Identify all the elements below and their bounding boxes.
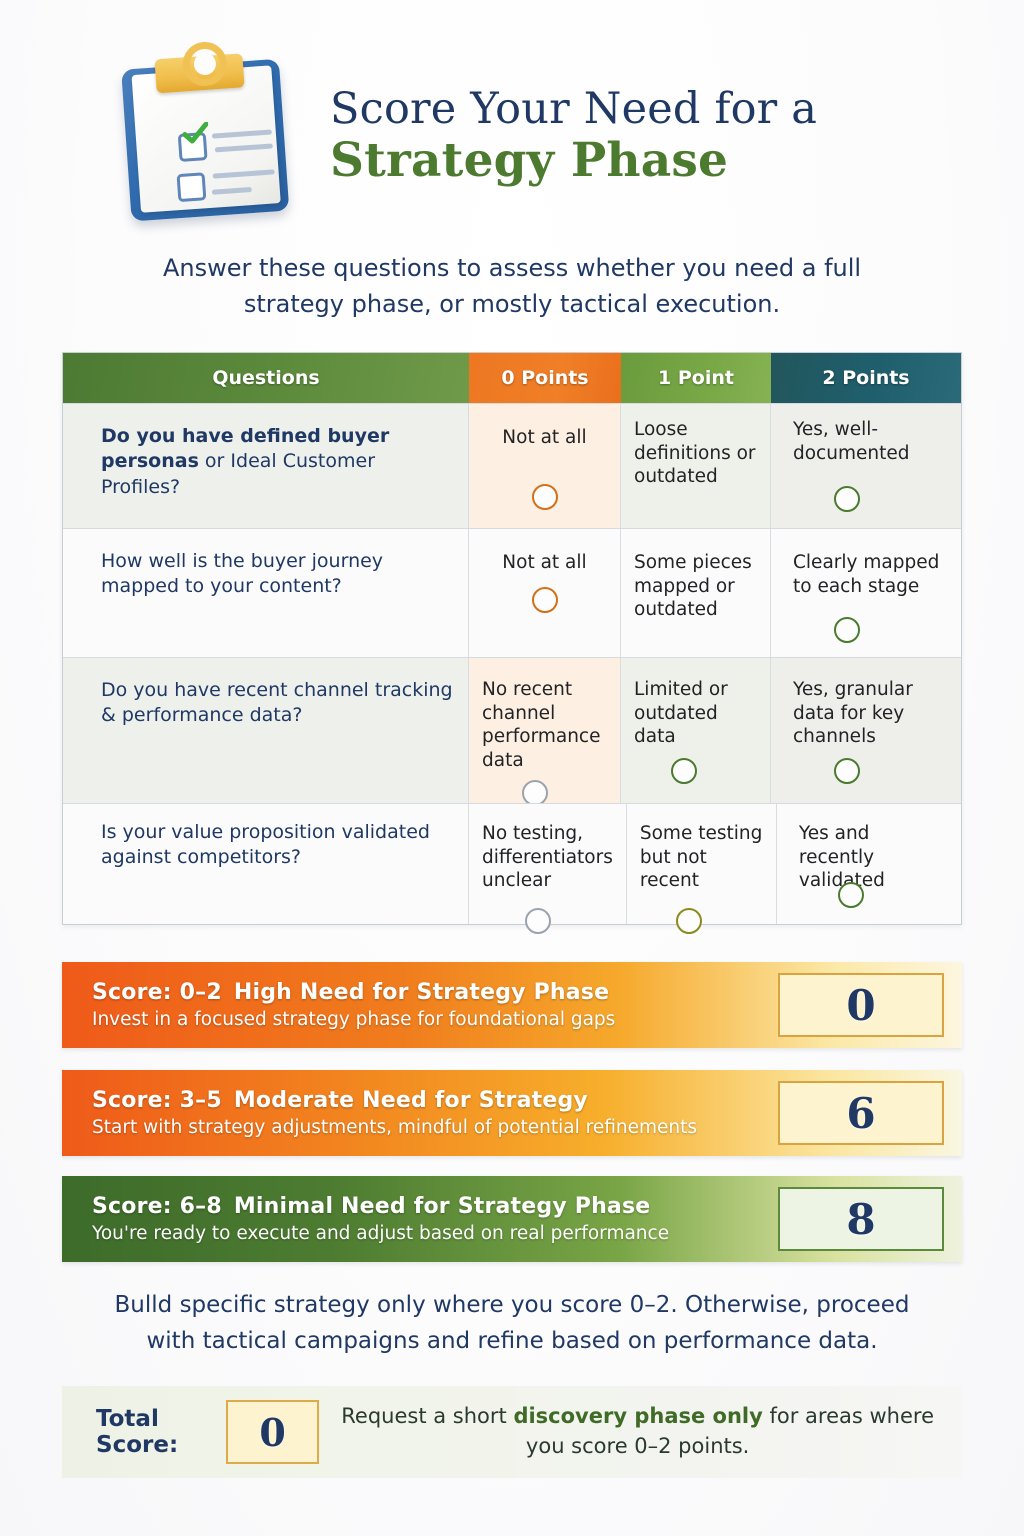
question-cell: Do you have defined buyer personas or Id… xyxy=(63,404,469,528)
total-note-pre: Request a short xyxy=(341,1404,513,1428)
option-cell-1-point[interactable]: Limited or outdated data xyxy=(621,658,771,803)
page-title: Score Your Need for a Strategy Phase xyxy=(330,85,817,187)
table-row: How well is the buyer journey mapped to … xyxy=(63,528,961,657)
paper-line xyxy=(212,187,252,195)
page-header: Score Your Need for a Strategy Phase xyxy=(0,34,1024,239)
checkbox-empty-icon xyxy=(177,172,207,202)
score-band-minimal: Score: 6–8Minimal Need for Strategy Phas… xyxy=(62,1176,962,1262)
score-band-range: Score: 6–8 xyxy=(92,1194,222,1219)
option-label: Some testing but not recent xyxy=(640,822,763,893)
page-subtitle: Answer these questions to assess whether… xyxy=(120,250,904,323)
column-header-0-points: 0 Points xyxy=(469,353,621,403)
score-band-value: 6 xyxy=(778,1081,944,1145)
score-band-subtitle: You're ready to execute and adjust based… xyxy=(92,1223,778,1244)
page-title-line2: Strategy Phase xyxy=(330,134,817,188)
radio-option-1-point[interactable] xyxy=(676,908,702,934)
option-label: Limited or outdated data xyxy=(634,678,757,749)
score-band-text: Score: 0–2High Need for Strategy Phase I… xyxy=(62,980,778,1030)
score-band-moderate: Score: 3–5Moderate Need for Strategy Sta… xyxy=(62,1070,962,1156)
table-header-row: Questions 0 Points 1 Point 2 Points xyxy=(63,353,961,403)
option-cell-2-points[interactable]: Yes, granular data for key channels xyxy=(771,658,961,803)
option-label: Loose definitions or outdated xyxy=(634,418,757,489)
radio-option-2-points[interactable] xyxy=(834,617,860,643)
option-cell-2-points[interactable]: Clearly mapped to each stage xyxy=(771,529,961,657)
infographic-page: Score Your Need for a Strategy Phase Ans… xyxy=(0,0,1024,1536)
column-header-1-point: 1 Point xyxy=(621,353,771,403)
score-band-label: Minimal Need for Strategy Phase xyxy=(234,1194,651,1219)
score-band-value: 0 xyxy=(778,973,944,1037)
paper-line xyxy=(212,129,272,138)
option-label: No testing, differentiators unclear xyxy=(482,822,613,893)
option-label: Not at all xyxy=(482,551,607,575)
radio-option-2-points[interactable] xyxy=(838,882,864,908)
score-band-subtitle: Start with strategy adjustments, mindful… xyxy=(92,1117,778,1138)
option-label: Not at all xyxy=(482,426,607,450)
score-band-title: Score: 0–2High Need for Strategy Phase xyxy=(92,980,778,1005)
score-band-range: Score: 3–5 xyxy=(92,1088,222,1113)
radio-option-2-points[interactable] xyxy=(834,758,860,784)
radio-option-0-points[interactable] xyxy=(525,908,551,934)
score-band-high: Score: 0–2High Need for Strategy Phase I… xyxy=(62,962,962,1048)
score-band-text: Score: 6–8Minimal Need for Strategy Phas… xyxy=(62,1194,778,1244)
table-row: Do you have defined buyer personas or Id… xyxy=(63,403,961,528)
check-mark-icon xyxy=(182,121,209,145)
option-cell-2-points[interactable]: Yes and recently validated xyxy=(777,804,961,924)
clipboard-checklist-icon xyxy=(106,35,309,238)
score-band-label: Moderate Need for Strategy xyxy=(234,1088,588,1113)
option-cell-0-points[interactable]: Not at all xyxy=(469,529,621,657)
scoring-table: Questions 0 Points 1 Point 2 Points Do y… xyxy=(62,352,962,925)
option-cell-0-points[interactable]: No testing, differentiators unclear xyxy=(469,804,627,924)
paper-line xyxy=(213,169,275,178)
question-cell: How well is the buyer journey mapped to … xyxy=(63,529,469,657)
total-score-value[interactable]: 0 xyxy=(226,1400,319,1464)
score-band-range: Score: 0–2 xyxy=(92,980,222,1005)
total-score-label: Total Score: xyxy=(96,1406,210,1458)
option-label: Clearly mapped to each stage xyxy=(793,551,948,598)
paper-line xyxy=(215,143,273,152)
page-title-line1: Score Your Need for a xyxy=(330,85,817,133)
column-header-questions: Questions xyxy=(63,353,469,403)
option-label: Some pieces mapped or outdated xyxy=(634,551,757,622)
radio-option-0-points[interactable] xyxy=(532,484,558,510)
option-label: Yes and recently validated xyxy=(799,822,948,893)
option-cell-1-point[interactable]: Some pieces mapped or outdated xyxy=(621,529,771,657)
score-band-title: Score: 3–5Moderate Need for Strategy xyxy=(92,1088,778,1113)
option-label: Yes, well-documented xyxy=(793,418,948,465)
option-label: No recent channel performance data xyxy=(482,678,607,773)
total-note-highlight: discovery phase only xyxy=(513,1404,762,1428)
footnote-text: Bulld specific strategy only where you s… xyxy=(90,1288,934,1359)
option-cell-1-point[interactable]: Some testing but not recent xyxy=(627,804,777,924)
radio-option-1-point[interactable] xyxy=(671,758,697,784)
total-score-note: Request a short discovery phase only for… xyxy=(319,1402,962,1462)
question-cell: Is your value proposition validated agai… xyxy=(63,804,469,924)
option-label: Yes, granular data for key channels xyxy=(793,678,948,749)
score-band-label: High Need for Strategy Phase xyxy=(234,980,609,1005)
question-cell: Do you have recent channel tracking & pe… xyxy=(63,658,469,803)
table-row: Is your value proposition validated agai… xyxy=(63,803,961,924)
table-row: Do you have recent channel tracking & pe… xyxy=(63,657,961,803)
score-band-subtitle: Invest in a focused strategy phase for f… xyxy=(92,1009,778,1030)
score-band-text: Score: 3–5Moderate Need for Strategy Sta… xyxy=(62,1088,778,1138)
radio-option-2-points[interactable] xyxy=(834,486,860,512)
radio-option-0-points[interactable] xyxy=(532,587,558,613)
column-header-2-points: 2 Points xyxy=(771,353,961,403)
option-cell-0-points[interactable]: Not at all xyxy=(469,404,621,528)
option-cell-1-point[interactable]: Loose definitions or outdated xyxy=(621,404,771,528)
score-band-value: 8 xyxy=(778,1187,944,1251)
total-score-bar: Total Score: 0 Request a short discovery… xyxy=(62,1386,962,1478)
option-cell-0-points[interactable]: No recent channel performance data xyxy=(469,658,621,803)
option-cell-2-points[interactable]: Yes, well-documented xyxy=(771,404,961,528)
score-band-title: Score: 6–8Minimal Need for Strategy Phas… xyxy=(92,1194,778,1219)
